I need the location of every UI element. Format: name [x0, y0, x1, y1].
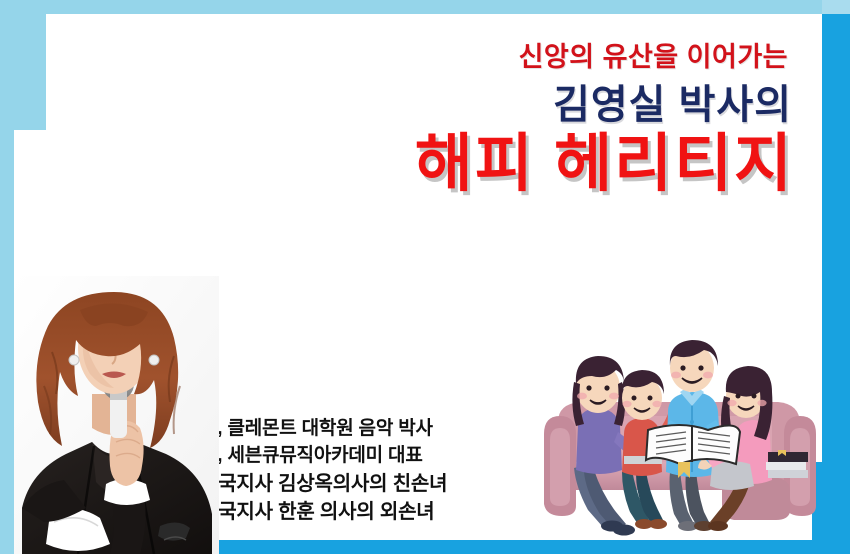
headline-block: 신앙의 유산을 이어가는 김영실 박사의 해피 헤리티지 [330, 44, 800, 196]
family-reading-illustration-icon [540, 330, 830, 542]
credential-line: 미, 클레몬트 대학원 음악 박사 [200, 416, 530, 443]
top-right-light-blue-cap [822, 0, 850, 14]
credential-line: 애국지사 김상옥의사의 친손녀 [200, 470, 530, 498]
top-light-blue-bar [0, 0, 822, 14]
speaker-portrait-icon [14, 276, 219, 554]
credentials-block: 미, 클레몬트 대학원 음악 박사 현, 세븐큐뮤직아카데미 대표 애국지사 김… [200, 416, 530, 527]
credential-line: 애국지사 한훈 의사의 외손녀 [200, 498, 530, 526]
credential-line: 현, 세븐큐뮤직아카데미 대표 [200, 443, 530, 470]
left-light-blue-bar-wide [0, 0, 46, 130]
speaker-portrait [14, 276, 219, 554]
poster-canvas: 신앙의 유산을 이어가는 김영실 박사의 해피 헤리티지 미, 클레몬트 대학원… [0, 0, 850, 554]
headline-speaker-name: 김영실 박사의 [330, 85, 800, 125]
left-light-blue-bar-narrow [0, 130, 14, 554]
headline-eyebrow: 신앙의 유산을 이어가는 [330, 44, 800, 71]
family-reading-illustration [540, 330, 830, 542]
headline-program-title: 해피 헤리티지 [330, 133, 800, 196]
